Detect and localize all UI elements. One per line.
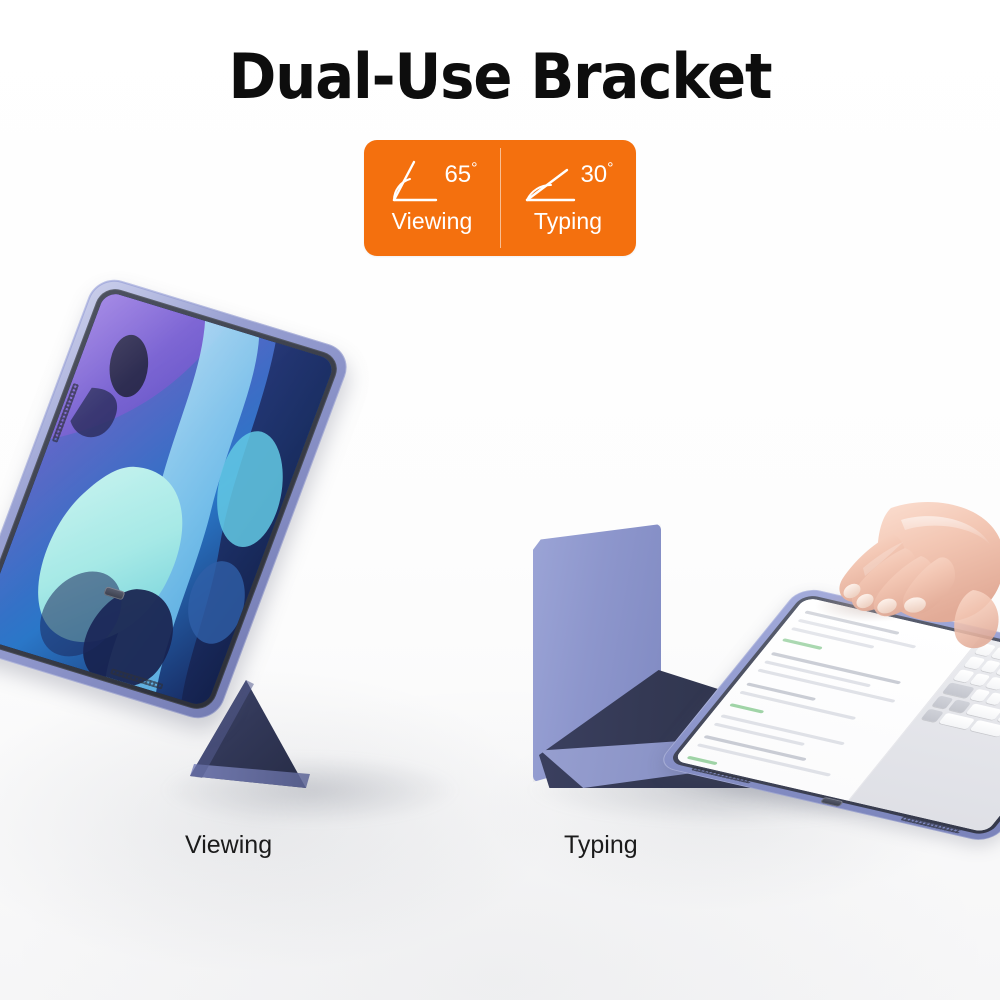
product-photo-typing	[505, 500, 1000, 850]
wallpaper-abstract	[0, 291, 336, 708]
angle-65-row: 65°	[364, 152, 500, 210]
badge-label-typing: Typing	[534, 208, 602, 234]
badge-label-viewing: Viewing	[392, 208, 473, 234]
page-title: Dual-Use Bracket	[35, 44, 965, 110]
caption-typing: Typing	[564, 831, 638, 859]
angle-30-value: 30°	[580, 163, 613, 187]
angle-30-row: 30°	[500, 152, 636, 210]
angle-65-icon	[386, 156, 442, 206]
tablet-screen-viewing	[0, 291, 336, 708]
angle-30-icon	[522, 156, 578, 206]
product-image-canvas: Dual-Use Bracket 65° Viewing	[0, 0, 1000, 1000]
tablet-viewing	[0, 273, 354, 724]
hand-typing	[805, 498, 1000, 698]
badge-half-viewing: 65° Viewing	[364, 140, 500, 256]
angle-65-value: 65°	[444, 163, 477, 187]
product-photo-viewing	[10, 300, 430, 830]
caption-viewing: Viewing	[185, 831, 272, 859]
badge-half-typing: 30° Typing	[500, 140, 636, 256]
angle-badge: 65° Viewing 30° Typing	[364, 140, 636, 256]
